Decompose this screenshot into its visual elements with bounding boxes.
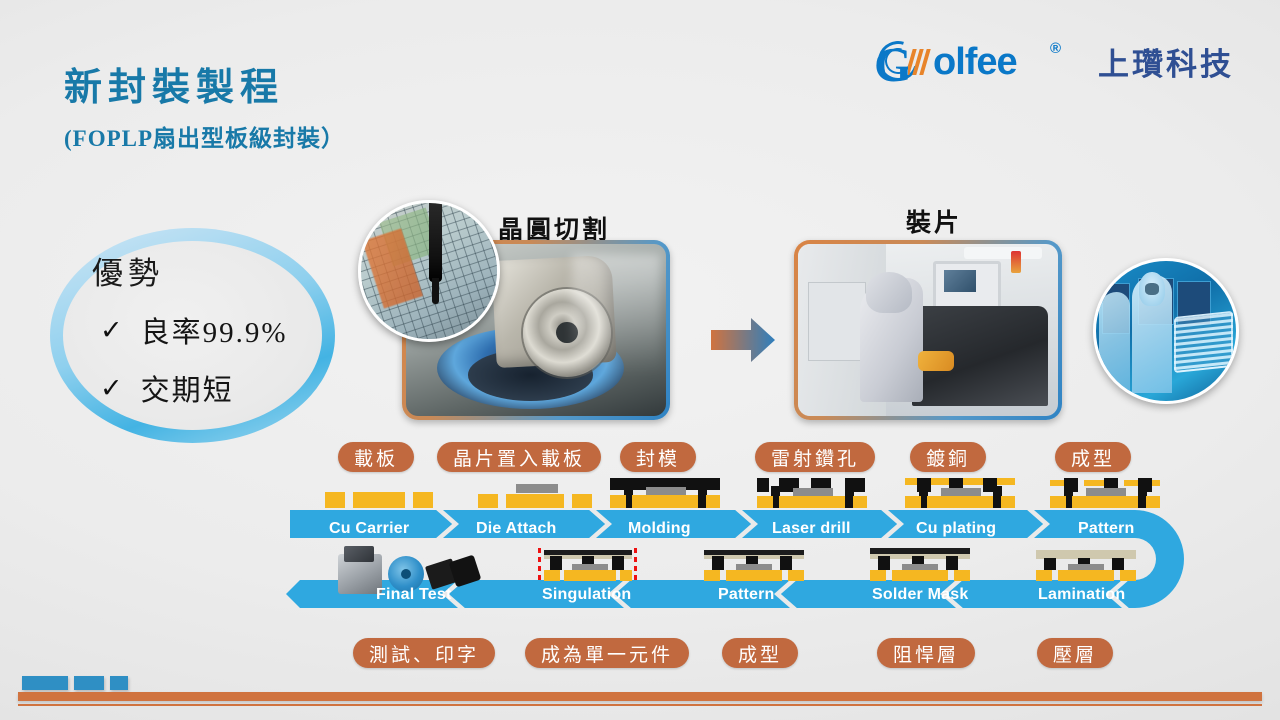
process-step-label[interactable]: Singulation (542, 586, 631, 604)
xsec-solder-mask (866, 548, 976, 582)
process-arrow-icon (711, 318, 775, 362)
check-icon: ✓ (100, 375, 125, 402)
process-pill-cn: 晶片置入載板 (437, 442, 601, 472)
process-pill-cn: 封模 (620, 442, 696, 472)
title-subtitle: (FOPLP扇出型板級封裝） (64, 119, 345, 153)
company-name-cn: 上瓚科技 (1098, 39, 1234, 84)
deco-square (22, 676, 68, 690)
process-pill-cn: 測試、印字 (353, 638, 495, 668)
process-flow: 載板 晶片置入載板 封模 雷射鑽孔 鍍銅 成型 (0, 440, 1280, 680)
advantage-item-label: 良率99.9% (141, 309, 288, 351)
advantage-item: ✓ 良率99.9% (100, 309, 352, 351)
xsec-die-attach (478, 480, 596, 508)
xsec-singulation (534, 548, 644, 582)
deco-square (74, 676, 104, 690)
company-logo: G olfee ® 上瓚科技 (874, 38, 1234, 84)
process-step-label[interactable]: Molding (628, 520, 691, 538)
process-step-label[interactable]: Lamination (1038, 586, 1125, 604)
xsec-molding (610, 478, 720, 508)
photo-cleanroom-round (1093, 258, 1239, 404)
process-pill-cn: 阻悍層 (877, 638, 975, 668)
photo-caption-bonding: 裝片 (906, 203, 962, 239)
process-step-label[interactable]: Cu plating (916, 520, 996, 538)
advantage-item: ✓ 交期短 (100, 367, 352, 409)
xsec-cu-plating (905, 478, 1015, 508)
logo-wordmark: olfee (933, 41, 1017, 84)
process-step-label[interactable]: Cu Carrier (329, 520, 409, 538)
deco-bar-thin (18, 704, 1262, 706)
xsec-cu-carrier (325, 484, 435, 508)
process-pill-cn: 成為單一元件 (525, 638, 689, 668)
process-step-label[interactable]: Die Attach (476, 520, 557, 538)
xsec-lamination (1032, 548, 1142, 582)
process-pill-cn: 鍍銅 (910, 442, 986, 472)
registered-mark: ® (1050, 40, 1061, 57)
process-step-label[interactable]: Pattern (1078, 520, 1135, 538)
title-main: 新封裝製程 (64, 68, 345, 110)
final-test-icons (336, 552, 476, 582)
process-step-label[interactable]: Final Test (376, 586, 452, 604)
deco-square (110, 676, 128, 690)
advantage-text-group: 優勢 ✓ 良率99.9% ✓ 交期短 (92, 248, 352, 409)
process-pill-cn: 成型 (1055, 442, 1131, 472)
process-pill-cn: 載板 (338, 442, 414, 472)
photo-die-bonding-image (798, 244, 1058, 416)
check-icon: ✓ (100, 317, 125, 344)
process-pill-cn: 雷射鑽孔 (755, 442, 875, 472)
process-step-label[interactable]: Solder Mask (872, 586, 968, 604)
photo-wafer-closeup (358, 200, 500, 342)
deco-bar (18, 692, 1262, 701)
xsec-laser-drill (757, 478, 867, 508)
xsec-pattern-top (1050, 478, 1160, 508)
advantage-item-label: 交期短 (141, 367, 234, 409)
process-pill-cn: 成型 (722, 638, 798, 668)
xsec-pattern-bottom (700, 548, 810, 582)
process-pill-cn: 壓層 (1037, 638, 1113, 668)
photo-die-bonding (794, 240, 1062, 420)
slide-root: 新封裝製程 (FOPLP扇出型板級封裝） G olfee ® 上瓚科技 優勢 ✓… (0, 0, 1280, 720)
process-step-label[interactable]: Pattern (718, 586, 775, 604)
logo-mark: G olfee ® (874, 38, 1084, 84)
process-step-label[interactable]: Laser drill (772, 520, 851, 538)
logo-slash-icon (908, 49, 934, 75)
advantage-heading: 優勢 (92, 248, 352, 293)
page-title: 新封裝製程 (FOPLP扇出型板級封裝） (64, 68, 345, 153)
